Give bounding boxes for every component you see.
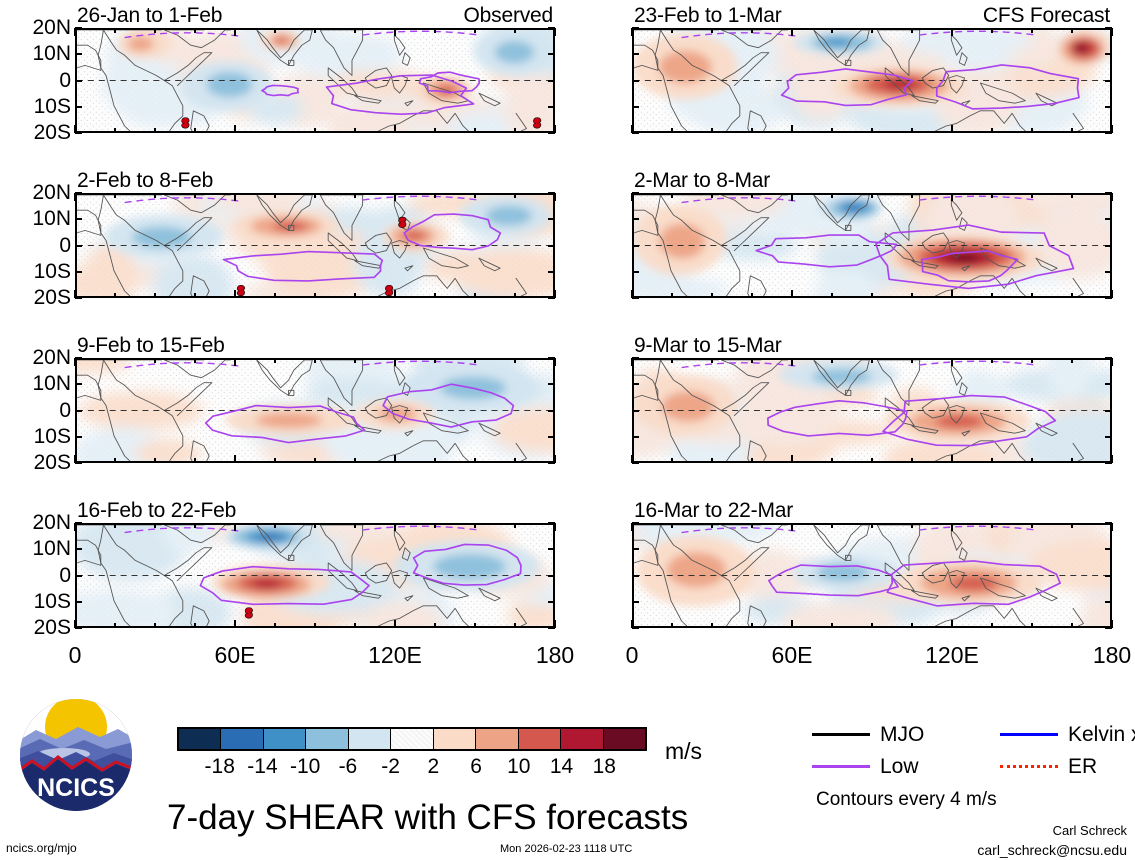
x-tick [394,358,396,366]
y-tick [75,106,82,108]
panel-title: 9-Feb to 15-Feb [77,335,225,356]
footer-site[interactable]: ncics.org/mjo [6,842,77,854]
x-tick [1071,623,1073,628]
ncics-logo: NCICS [18,697,134,813]
x-tick [354,128,356,133]
x-tick [274,458,276,463]
x-tick [234,620,236,628]
x-tick [434,128,436,133]
y-tick [632,192,639,194]
x-tick [1031,623,1033,628]
x-tick [154,523,156,528]
x-tick [951,455,953,463]
x-tick [991,523,993,528]
x-tick [474,193,476,198]
x-tick [554,523,556,531]
x-tick [791,358,793,366]
x-tick [314,28,316,33]
panel-title: 16-Mar to 22-Mar [634,500,793,521]
map-canvas [75,28,555,133]
x-tick [434,28,436,33]
y-tick [632,410,639,412]
y-tick [75,462,82,464]
x-tick [514,293,516,298]
legend-line-swatch [1000,733,1058,736]
colorbar-swatch [348,729,390,749]
y-tick [1105,575,1112,577]
x-tick [951,193,953,201]
x-axis-tick-label: 0 [69,644,82,667]
x-tick [354,523,356,528]
y-axis-tick-label: 20S [34,452,71,473]
x-tick [991,458,993,463]
y-tick [632,132,639,134]
x-tick [791,290,793,298]
panel-title: 23-Feb to 1-Mar [634,5,782,26]
y-axis-labels: 20N10N010S20S [3,523,71,628]
y-tick [75,548,82,550]
y-tick [632,548,639,550]
y-tick [1105,106,1112,108]
x-tick [871,128,873,133]
y-tick [1105,436,1112,438]
x-tick [314,623,316,628]
x-tick [354,458,356,463]
x-tick [194,128,196,133]
x-tick [1111,290,1113,298]
y-axis-tick-label: 10N [32,373,71,394]
colorbar-swatch [305,729,347,749]
y-tick [632,522,639,524]
legend-label: MJO [880,724,924,745]
x-tick [991,28,993,33]
x-tick [911,523,913,528]
y-tick [75,627,82,629]
x-tick [274,293,276,298]
x-tick [1071,28,1073,33]
y-tick [548,436,555,438]
x-tick [751,128,753,133]
x-tick [474,28,476,33]
y-axis-tick-label: 0 [59,565,71,586]
x-tick [554,358,556,366]
panel-5: 23-Feb to 1-MarCFS Forecast [632,28,1112,133]
x-tick [911,623,913,628]
y-tick [632,462,639,464]
x-tick [871,193,873,198]
colorbar-tick-label: -10 [290,756,320,777]
x-tick [951,620,953,628]
y-tick [75,357,82,359]
x-tick [314,358,316,363]
y-tick [548,383,555,385]
legend-line-swatch [1000,765,1058,768]
colorbar-tick-label: 14 [550,756,573,777]
x-tick [991,293,993,298]
x-tick [194,293,196,298]
x-tick [871,523,873,528]
legend-item-mjo: MJO [812,724,924,745]
y-tick [548,53,555,55]
x-tick [514,458,516,463]
colorbar-swatch [220,729,262,749]
x-tick [154,358,156,363]
y-tick [632,80,639,82]
x-tick [871,358,873,363]
colorbar-swatch [179,729,220,749]
y-tick [632,27,639,29]
y-axis-tick-label: 10N [32,43,71,64]
y-axis-tick-label: 20N [32,512,71,533]
x-tick [911,128,913,133]
x-tick [711,193,713,198]
colorbar-tick-label: -2 [381,756,400,777]
x-tick [711,358,713,363]
y-tick [548,218,555,220]
x-tick [711,623,713,628]
x-axis-tick-label: 120E [925,644,979,667]
x-tick [1111,455,1113,463]
y-axis-labels: 20N10N010S20S [3,358,71,463]
x-tick [154,458,156,463]
legend-item-kelvin-x2: Kelvin x2 [1000,724,1135,745]
x-tick [1111,125,1113,133]
map-canvas [75,523,555,628]
x-tick [671,293,673,298]
y-tick [1105,53,1112,55]
legend-line-swatch [812,733,870,736]
x-tick [951,125,953,133]
y-tick [1105,410,1112,412]
y-tick [632,601,639,603]
colorbar-swatch [390,729,432,749]
x-tick [474,523,476,528]
colorbar-swatch [475,729,517,749]
x-tick [234,523,236,531]
x-tick [991,193,993,198]
colorbar-tick-label: -14 [247,756,277,777]
y-tick [548,271,555,273]
x-tick [791,125,793,133]
y-tick [1105,383,1112,385]
x-tick [791,523,793,531]
colorbar-swatch [433,729,475,749]
column-header: CFS Forecast [983,5,1110,26]
x-tick [434,458,436,463]
y-axis-tick-label: 20S [34,617,71,638]
y-tick [1105,271,1112,273]
x-tick [194,193,196,198]
x-tick [434,193,436,198]
panel-3: 9-Feb to 15-Feb [75,358,555,463]
x-tick [274,28,276,33]
y-axis-tick-label: 20N [32,17,71,38]
y-tick [75,522,82,524]
y-tick [75,53,82,55]
x-tick [354,623,356,628]
y-axis-tick-label: 10S [34,96,71,117]
y-tick [632,436,639,438]
x-tick [394,125,396,133]
y-tick [75,271,82,273]
y-tick [548,80,555,82]
x-tick [474,458,476,463]
x-tick [114,523,116,528]
x-tick [951,523,953,531]
x-tick [234,290,236,298]
x-tick [831,458,833,463]
x-tick [114,293,116,298]
x-tick [474,293,476,298]
x-tick [1071,523,1073,528]
y-tick [75,192,82,194]
y-axis-tick-label: 10S [34,426,71,447]
x-tick [274,193,276,198]
x-tick [711,293,713,298]
x-tick [631,125,633,133]
colorbar-tick-label: 10 [507,756,530,777]
x-tick [711,523,713,528]
colorbar-tick-label: -18 [205,756,235,777]
y-tick [548,575,555,577]
colorbar-tick-label: 18 [593,756,616,777]
x-tick [274,623,276,628]
map-canvas [75,358,555,463]
x-tick [234,193,236,201]
x-tick [514,28,516,33]
x-tick [514,623,516,628]
x-tick [74,358,76,366]
x-tick [1111,523,1113,531]
panel-8: 16-Mar to 22-Mar [632,523,1112,628]
y-tick [75,297,82,299]
x-tick [314,523,316,528]
y-tick [548,410,555,412]
y-tick [632,357,639,359]
x-tick [631,28,633,36]
x-tick [554,193,556,201]
x-tick [791,28,793,36]
x-tick [154,128,156,133]
x-tick [74,193,76,201]
x-tick [394,28,396,36]
x-tick [354,293,356,298]
x-tick [751,293,753,298]
x-tick [554,28,556,36]
y-tick [75,27,82,29]
y-tick [1105,245,1112,247]
map-canvas [632,358,1112,463]
legend-label: Low [880,756,919,777]
x-tick [234,28,236,36]
x-tick [631,358,633,366]
x-tick [911,458,913,463]
y-tick [75,245,82,247]
y-tick [632,575,639,577]
footer-email[interactable]: carl_schreck@ncsu.edu [977,843,1127,857]
x-tick [1071,293,1073,298]
x-tick [74,290,76,298]
panel-7: 9-Mar to 15-Mar [632,358,1112,463]
x-tick [74,28,76,36]
legend-label: ER [1068,756,1097,777]
x-tick [394,193,396,201]
panel-title: 9-Mar to 15-Mar [634,335,782,356]
panel-title: 2-Feb to 8-Feb [77,170,213,191]
x-tick [1111,358,1113,366]
x-tick [554,620,556,628]
legend-item-er: ER [1000,756,1097,777]
x-tick [314,128,316,133]
y-tick [1105,548,1112,550]
column-header: Observed [464,5,553,26]
x-tick [394,523,396,531]
legend-label: Kelvin x2 [1068,724,1135,745]
map-canvas [632,523,1112,628]
x-tick [354,28,356,33]
x-tick [354,193,356,198]
legend-item-low: Low [812,756,919,777]
x-tick [751,358,753,363]
x-tick [1071,358,1073,363]
y-tick [1105,218,1112,220]
panel-title: 2-Mar to 8-Mar [634,170,770,191]
x-tick [554,125,556,133]
x-tick [951,28,953,36]
x-tick [154,193,156,198]
y-tick [632,297,639,299]
colorbar-swatch [560,729,602,749]
x-tick [711,28,713,33]
colorbar-swatch [263,729,305,749]
y-tick [1105,601,1112,603]
x-tick [871,28,873,33]
x-tick [671,523,673,528]
colorbar-tick-label: 6 [470,756,482,777]
x-tick [1031,193,1033,198]
panel-title: 26-Jan to 1-Feb [77,5,222,26]
x-tick [1111,28,1113,36]
colorbar-units: m/s [665,740,702,763]
y-tick [75,601,82,603]
x-tick [1031,293,1033,298]
x-tick [154,293,156,298]
x-tick [274,358,276,363]
y-axis-tick-label: 20S [34,122,71,143]
y-axis-tick-label: 0 [59,400,71,421]
x-tick [74,523,76,531]
x-tick [631,290,633,298]
x-tick [314,193,316,198]
x-tick [911,358,913,363]
x-tick [474,128,476,133]
x-tick [474,358,476,363]
x-tick [114,623,116,628]
y-tick [632,245,639,247]
x-tick [514,193,516,198]
x-tick [791,620,793,628]
x-tick [394,455,396,463]
y-axis-tick-label: 10N [32,538,71,559]
logo-text: NCICS [37,774,115,802]
x-tick [631,620,633,628]
colorbar-swatch [603,729,645,749]
x-tick [194,523,196,528]
footer-author: Carl Schreck [1053,824,1127,837]
x-tick [514,358,516,363]
x-tick [194,458,196,463]
mjo-shear-forecast-figure: 26-Jan to 1-FebObserved20N10N010S20S2-Fe… [0,0,1135,860]
x-tick [1071,128,1073,133]
y-axis-tick-label: 0 [59,235,71,256]
y-tick [75,436,82,438]
x-axis-tick-label: 0 [626,644,639,667]
y-tick [632,271,639,273]
x-tick [1031,458,1033,463]
legend-line-swatch [812,765,870,768]
x-tick [751,193,753,198]
y-tick [548,245,555,247]
y-tick [548,106,555,108]
x-tick [394,620,396,628]
x-tick [791,193,793,201]
x-tick [434,623,436,628]
x-tick [671,458,673,463]
x-tick [1031,128,1033,133]
x-tick [1071,193,1073,198]
x-tick [1071,458,1073,463]
y-tick [75,575,82,577]
y-axis-tick-label: 20N [32,347,71,368]
y-axis-tick-label: 0 [59,70,71,91]
x-axis-tick-label: 120E [368,644,422,667]
x-tick [831,293,833,298]
y-axis-labels: 20N10N010S20S [3,193,71,298]
x-tick [194,358,196,363]
x-tick [911,293,913,298]
x-tick [791,455,793,463]
x-tick [831,128,833,133]
y-axis-tick-label: 10S [34,261,71,282]
x-tick [711,458,713,463]
x-tick [871,458,873,463]
y-tick [548,548,555,550]
figure-title: 7-day SHEAR with CFS forecasts [167,800,688,835]
colorbar-tick-label: 2 [428,756,440,777]
y-tick [632,106,639,108]
x-tick [554,290,556,298]
x-tick [631,523,633,531]
y-axis-tick-label: 10S [34,591,71,612]
x-tick [434,523,436,528]
x-tick [1031,28,1033,33]
x-tick [831,28,833,33]
x-tick [991,128,993,133]
x-tick [514,128,516,133]
x-tick [114,28,116,33]
x-tick [274,128,276,133]
y-tick [632,53,639,55]
y-axis-tick-label: 20N [32,182,71,203]
x-tick [831,358,833,363]
panel-4: 16-Feb to 22-Feb [75,523,555,628]
x-tick [114,128,116,133]
x-tick [314,293,316,298]
x-tick [631,455,633,463]
x-tick [671,358,673,363]
x-tick [671,193,673,198]
x-tick [74,620,76,628]
